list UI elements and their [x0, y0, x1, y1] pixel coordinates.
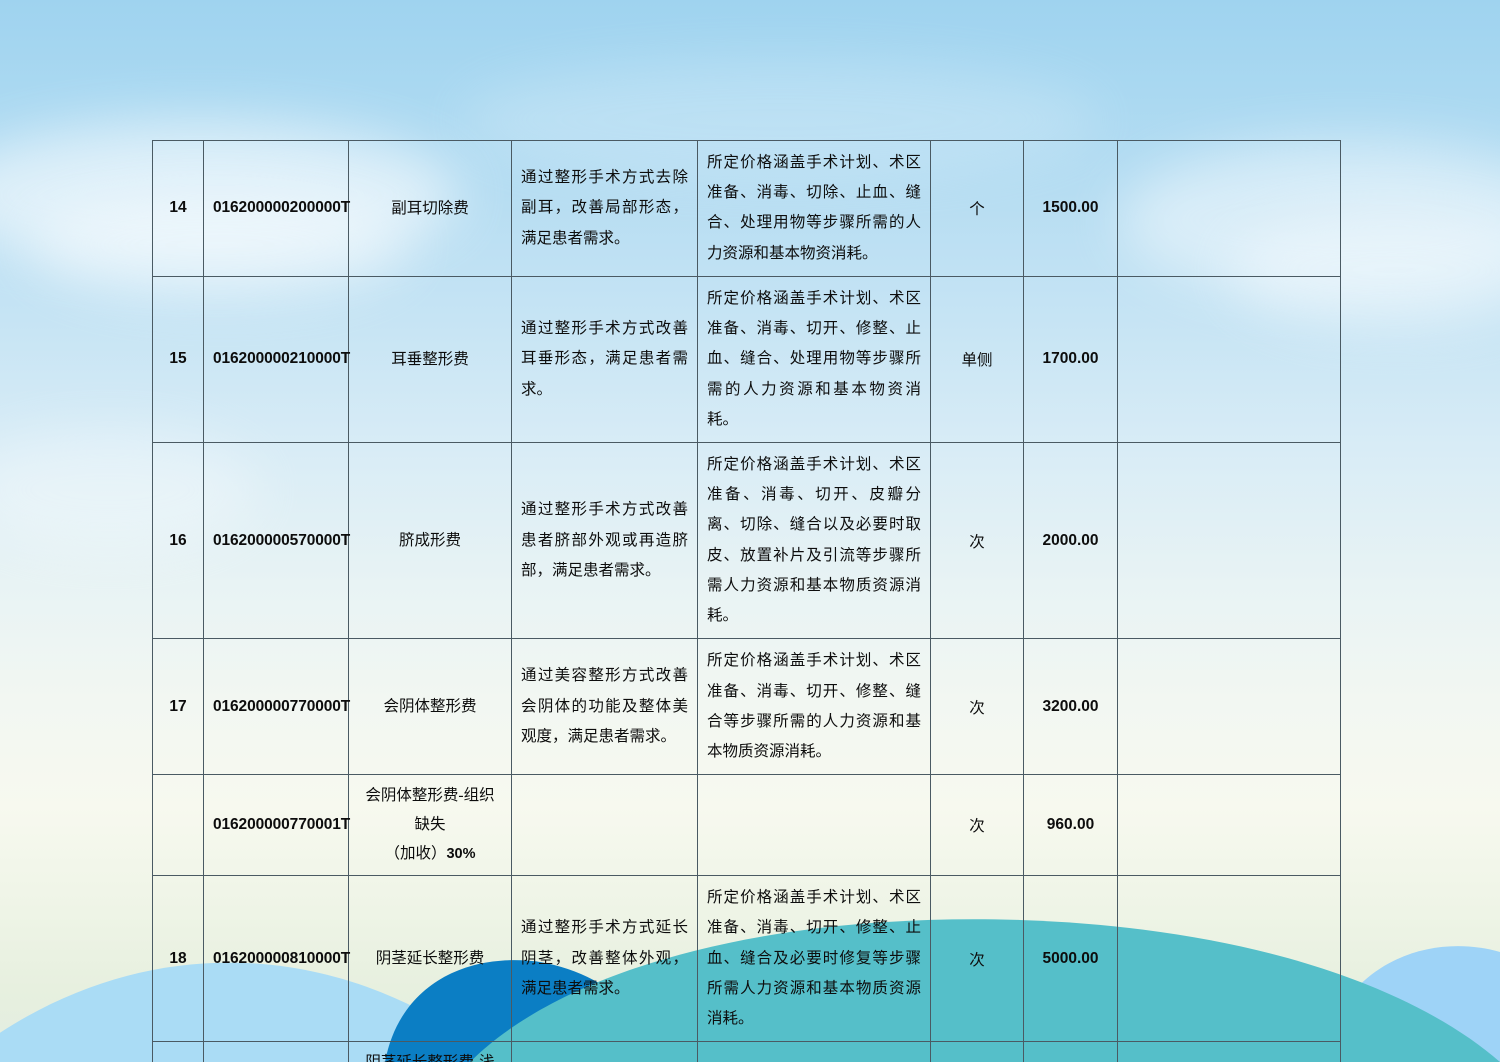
unit-cell: 次 — [931, 1042, 1024, 1062]
item-code-cell: 016200000210000T — [204, 276, 349, 442]
item-name-cell: 耳垂整形费 — [349, 276, 512, 442]
price-coverage-cell: 所定价格涵盖手术计划、术区准备、消毒、切开、修整、止血、缝合、处理用物等步骤所需… — [698, 276, 931, 442]
item-code-cell: 016200000770000T — [204, 639, 349, 775]
item-code-cell: 016200000810000T — [204, 876, 349, 1042]
table-row: 16 016200000570000T 脐成形费 通过整形手术方式改善患者脐部外… — [153, 442, 1341, 638]
medical-price-table: 14 016200000200000T 副耳切除费 通过整形手术方式去除副耳，改… — [152, 140, 1341, 1062]
item-code-cell: 016200000570000T — [204, 442, 349, 638]
price-cell: 1500.00 — [1024, 141, 1118, 277]
price-cell: 5000.00 — [1024, 876, 1118, 1042]
remarks-cell — [1118, 276, 1341, 442]
item-description-cell: 通过美容整形方式改善会阴体的功能及整体美观度，满足患者需求。 — [512, 639, 698, 775]
item-name-line-2: （加收）30% — [358, 840, 502, 869]
item-name-cell: 阴茎延长整形费-浅深悬 韧带切断（加收）20% — [349, 1042, 512, 1062]
table-row: 18 016200000810000T 阴茎延长整形费 通过整形手术方式延长阴茎… — [153, 876, 1341, 1042]
table-row: 17 016200000770000T 会阴体整形费 通过美容整形方式改善会阴体… — [153, 639, 1341, 775]
table-row: 016200000810001T 阴茎延长整形费-浅深悬 韧带切断（加收）20%… — [153, 1042, 1341, 1062]
price-coverage-cell: 所定价格涵盖手术计划、术区准备、消毒、切开、修整、止血、缝合及必要时修复等步骤所… — [698, 876, 931, 1042]
price-cell: 1700.00 — [1024, 276, 1118, 442]
remarks-cell — [1118, 141, 1341, 277]
price-table-container: 14 016200000200000T 副耳切除费 通过整形手术方式去除副耳，改… — [152, 140, 1340, 1062]
unit-cell: 次 — [931, 876, 1024, 1042]
unit-cell: 单侧 — [931, 276, 1024, 442]
item-name-cell: 脐成形费 — [349, 442, 512, 638]
price-cell: 1000.00 — [1024, 1042, 1118, 1062]
item-name-cell: 副耳切除费 — [349, 141, 512, 277]
serial-number-cell — [153, 775, 204, 876]
unit-cell: 个 — [931, 141, 1024, 277]
remarks-cell — [1118, 442, 1341, 638]
item-name-cell: 阴茎延长整形费 — [349, 876, 512, 1042]
item-code-cell: 016200000200000T — [204, 141, 349, 277]
serial-number-cell: 16 — [153, 442, 204, 638]
price-cell: 960.00 — [1024, 775, 1118, 876]
item-code-cell: 016200000810001T — [204, 1042, 349, 1062]
unit-cell: 次 — [931, 775, 1024, 876]
item-code-cell: 016200000770001T — [204, 775, 349, 876]
item-description-cell — [512, 775, 698, 876]
remarks-cell — [1118, 639, 1341, 775]
surcharge-percent: 30% — [446, 846, 475, 862]
unit-cell: 次 — [931, 639, 1024, 775]
item-description-cell: 通过整形手术方式去除副耳，改善局部形态，满足患者需求。 — [512, 141, 698, 277]
serial-number-cell: 14 — [153, 141, 204, 277]
unit-cell: 次 — [931, 442, 1024, 638]
table-row: 016200000770001T 会阴体整形费-组织缺失 （加收）30% 次 9… — [153, 775, 1341, 876]
table-row: 14 016200000200000T 副耳切除费 通过整形手术方式去除副耳，改… — [153, 141, 1341, 277]
item-name-suffix: （加收） — [384, 845, 446, 862]
table-row: 15 016200000210000T 耳垂整形费 通过整形手术方式改善耳垂形态… — [153, 276, 1341, 442]
remarks-cell — [1118, 1042, 1341, 1062]
price-coverage-cell: 所定价格涵盖手术计划、术区准备、消毒、切开、修整、缝合等步骤所需的人力资源和基本… — [698, 639, 931, 775]
price-table-body: 14 016200000200000T 副耳切除费 通过整形手术方式去除副耳，改… — [153, 141, 1341, 1062]
serial-number-cell: 18 — [153, 876, 204, 1042]
item-name-cell: 会阴体整形费 — [349, 639, 512, 775]
price-cell: 2000.00 — [1024, 442, 1118, 638]
remarks-cell — [1118, 876, 1341, 1042]
item-name-line-1: 会阴体整形费-组织缺失 — [358, 782, 502, 839]
item-name-line-1: 阴茎延长整形费-浅深悬 — [358, 1049, 502, 1062]
item-description-cell — [512, 1042, 698, 1062]
price-coverage-cell — [698, 775, 931, 876]
serial-number-cell: 15 — [153, 276, 204, 442]
price-coverage-cell: 所定价格涵盖手术计划、术区准备、消毒、切开、皮瓣分离、切除、缝合以及必要时取皮、… — [698, 442, 931, 638]
item-description-cell: 通过整形手术方式改善患者脐部外观或再造脐部，满足患者需求。 — [512, 442, 698, 638]
remarks-cell — [1118, 775, 1341, 876]
price-coverage-cell: 所定价格涵盖手术计划、术区准备、消毒、切除、止血、缝合、处理用物等步骤所需的人力… — [698, 141, 931, 277]
item-description-cell: 通过整形手术方式改善耳垂形态，满足患者需求。 — [512, 276, 698, 442]
serial-number-cell: 17 — [153, 639, 204, 775]
price-coverage-cell — [698, 1042, 931, 1062]
item-description-cell: 通过整形手术方式延长阴茎，改善整体外观，满足患者需求。 — [512, 876, 698, 1042]
price-cell: 3200.00 — [1024, 639, 1118, 775]
item-name-cell: 会阴体整形费-组织缺失 （加收）30% — [349, 775, 512, 876]
serial-number-cell — [153, 1042, 204, 1062]
